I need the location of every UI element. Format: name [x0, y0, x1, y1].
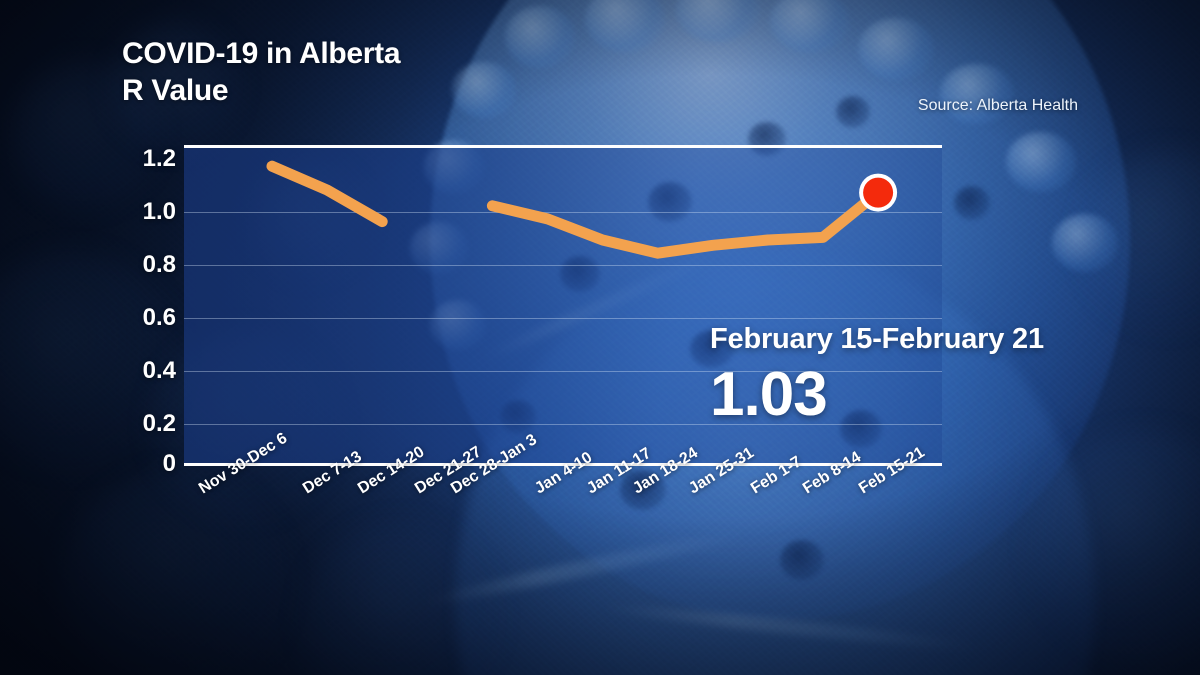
- line-segment-early: [272, 166, 382, 221]
- infographic-stage: COVID-19 in Alberta R Value Source: Albe…: [0, 0, 1200, 675]
- line-segment-recent: [492, 193, 878, 254]
- latest-value-marker[interactable]: [863, 178, 893, 208]
- callout-value: 1.03: [710, 362, 1044, 427]
- latest-value-callout: February 15-February 21 1.03: [710, 325, 1044, 427]
- callout-date-range: February 15-February 21: [710, 325, 1044, 354]
